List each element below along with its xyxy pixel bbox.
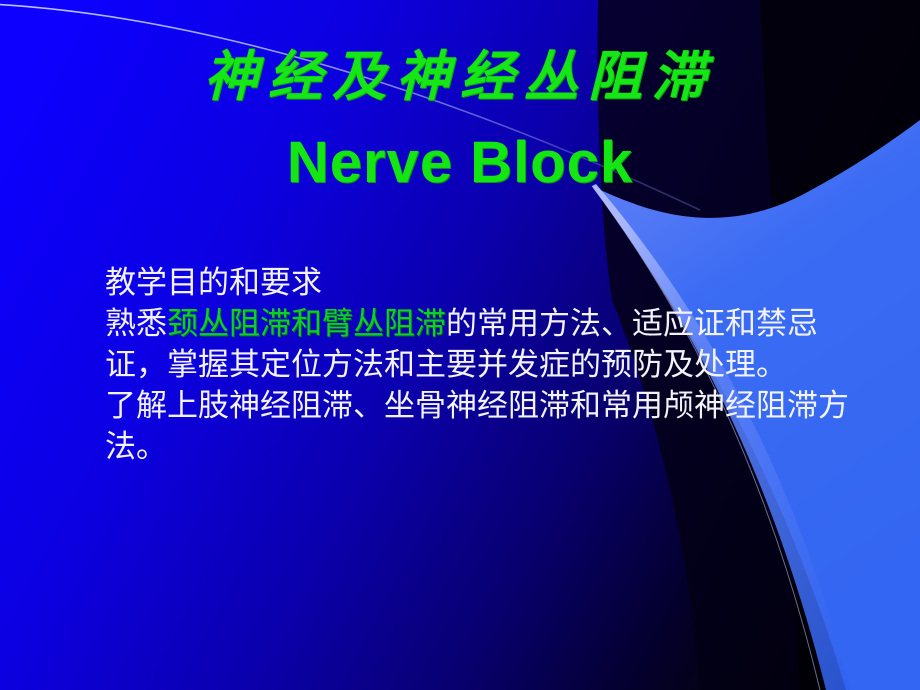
slide-canvas: 神经及神经丛阻滞 Nerve Block 教学目的和要求 熟悉颈丛阻滞和臂丛阻滞… xyxy=(0,0,920,690)
slide-content: 神经及神经丛阻滞 Nerve Block 教学目的和要求 熟悉颈丛阻滞和臂丛阻滞… xyxy=(0,0,920,690)
objectives-prefix: 熟悉 xyxy=(105,306,167,341)
page-title-english: Nerve Block xyxy=(0,134,920,192)
objectives-heading-text: 教学目的和要求 xyxy=(105,265,322,300)
objectives-paragraph-2: 了解上肢神经阻滞、坐骨神经阻滞和常用颅神经阻滞方法。 xyxy=(105,385,865,467)
objectives-paragraph-1: 熟悉颈丛阻滞和臂丛阻滞的常用方法、适应证和禁忌证，掌握其定位方法和主要并发症的预… xyxy=(105,303,865,385)
objectives-highlight: 颈丛阻滞和臂丛阻滞 xyxy=(167,306,446,341)
page-title-chinese: 神经及神经丛阻滞 xyxy=(0,48,920,105)
objectives-heading: 教学目的和要求 xyxy=(105,262,865,303)
objectives-paragraph-2-text: 了解上肢神经阻滞、坐骨神经阻滞和常用颅神经阻滞方法。 xyxy=(105,388,849,464)
objectives-text-block: 教学目的和要求 熟悉颈丛阻滞和臂丛阻滞的常用方法、适应证和禁忌证，掌握其定位方法… xyxy=(105,262,865,467)
